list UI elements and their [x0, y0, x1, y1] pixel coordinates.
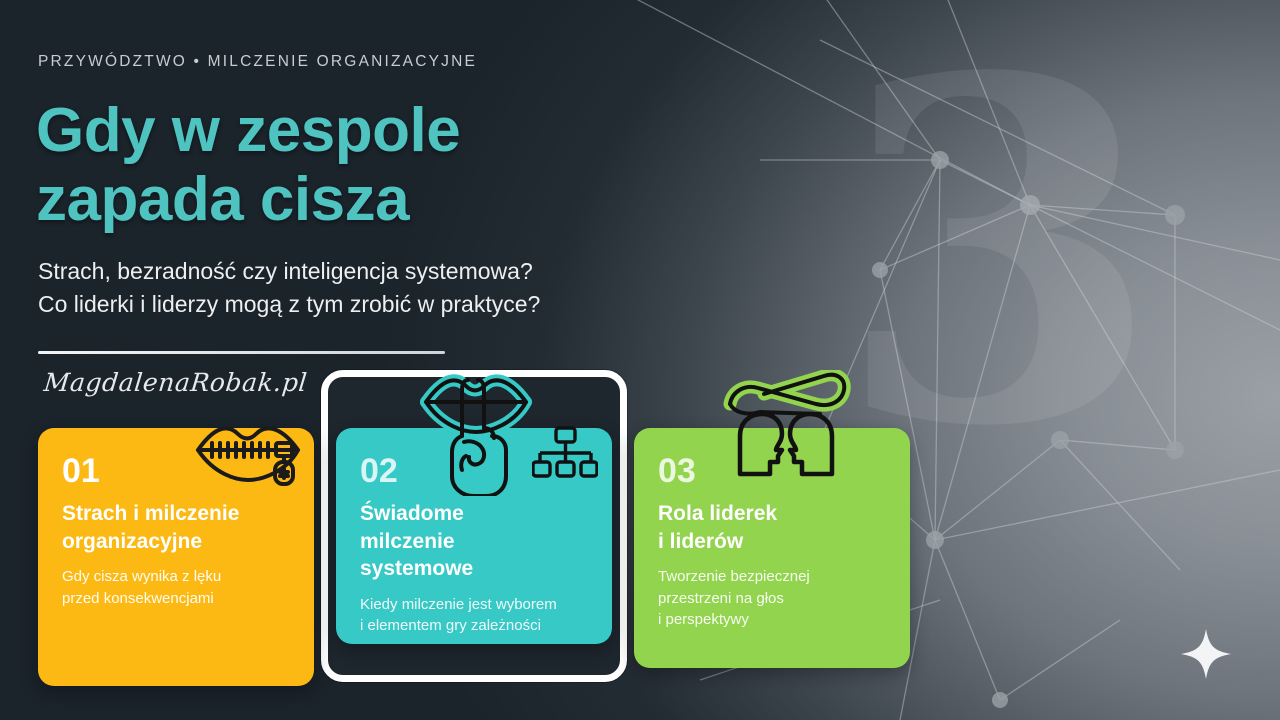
card-number: 03	[658, 454, 888, 488]
background-watermark-glyph: 3	[835, 18, 1162, 488]
eyebrow-kicker: PRZYWÓDZTWO • MILCZENIE ORGANIZACYJNE	[38, 53, 477, 71]
card-title: Rola liderek i liderów	[658, 500, 888, 555]
card-description: Tworzenie bezpiecznej przestrzeni na gło…	[658, 566, 888, 630]
card-description: Kiedy milczenie jest wyborem i elementem…	[360, 594, 590, 637]
card-01[interactable]: 01 Strach i milczenie organizacyjne Gdy …	[38, 428, 314, 686]
card-02[interactable]: 02 Świadome milczenie systemowe Kiedy mi…	[336, 428, 612, 644]
card-number: 02	[360, 454, 590, 488]
divider-rule	[38, 351, 445, 354]
page-subtitle: Strach, bezradność czy inteligencja syst…	[38, 255, 540, 322]
page-title: Gdy w zespole zapada cisza	[36, 96, 460, 235]
card-title: Strach i milczenie organizacyjne	[62, 500, 292, 555]
slide-canvas: 3 PRZYWÓDZTWO • MILCZENIE ORGANIZACYJNE …	[0, 0, 1280, 720]
card-03[interactable]: 03 Rola liderek i liderów Tworzenie bezp…	[634, 428, 910, 668]
card-title: Świadome milczenie systemowe	[360, 500, 590, 583]
brand-signature: MagdalenaRobak.pl	[42, 368, 308, 397]
card-number: 01	[62, 454, 292, 488]
card-description: Gdy cisza wynika z lęku przed konsekwenc…	[62, 566, 292, 609]
sparkle-icon	[1178, 626, 1234, 682]
